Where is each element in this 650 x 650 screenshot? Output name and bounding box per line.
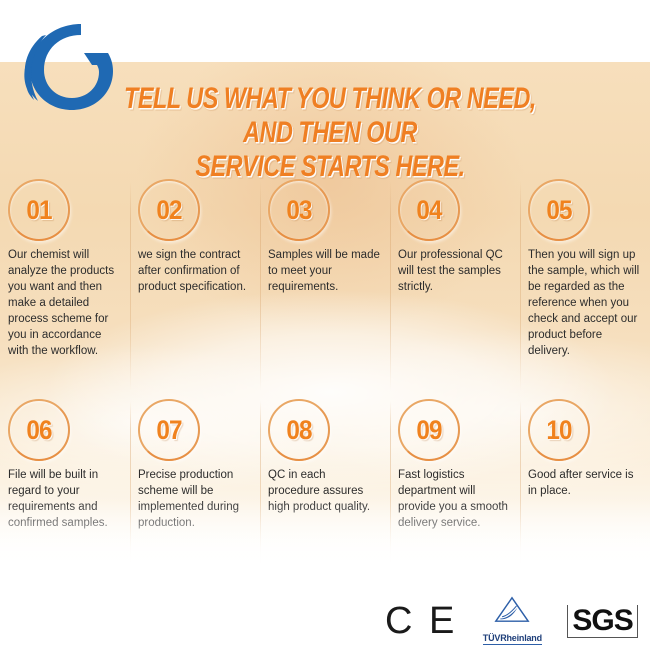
step-badge-08: 08 <box>268 399 330 461</box>
tuv-rheinland-label: TÜVRheinland <box>483 633 542 645</box>
step-badge-05: 05 <box>528 179 590 241</box>
sgs-logo: SGS <box>567 605 637 638</box>
step-description: Our professional QC will test the sample… <box>398 247 510 295</box>
step-item-08[interactable]: 08 QC in each procedure assures high pro… <box>260 395 390 570</box>
step-description: Fast logistics department will provide y… <box>398 467 510 531</box>
step-number: 02 <box>156 197 181 224</box>
step-badge-10: 10 <box>528 399 590 461</box>
step-number: 04 <box>416 197 441 224</box>
step-item-03[interactable]: 03 Samples will be made to meet your req… <box>260 175 390 395</box>
ce-mark-icon: C E <box>385 601 457 641</box>
step-description: Good after service is in place. <box>528 467 640 499</box>
step-badge-01: 01 <box>8 179 70 241</box>
step-description: Then you will sign up the sample, which … <box>528 247 640 359</box>
step-item-05[interactable]: 05 Then you will sign up the sample, whi… <box>520 175 650 395</box>
step-item-07[interactable]: 07 Precise production scheme will be imp… <box>130 395 260 570</box>
step-description: QC in each procedure assures high produc… <box>268 467 380 515</box>
step-number: 08 <box>286 417 311 444</box>
step-badge-06: 06 <box>8 399 70 461</box>
step-description: Precise production scheme will be implem… <box>138 467 250 531</box>
step-number: 06 <box>26 417 51 444</box>
steps-row-1: 01 Our chemist will analyze the products… <box>0 175 650 395</box>
certification-logos: C E TÜVRheinland SGS <box>385 597 640 645</box>
step-item-09[interactable]: 09 Fast logistics department will provid… <box>390 395 520 570</box>
step-badge-02: 02 <box>138 179 200 241</box>
step-number: 03 <box>286 197 311 224</box>
step-item-04[interactable]: 04 Our professional QC will test the sam… <box>390 175 520 395</box>
steps-row-2: 06 File will be built in regard to your … <box>0 395 650 570</box>
step-badge-07: 07 <box>138 399 200 461</box>
step-number: 01 <box>26 197 51 224</box>
step-item-01[interactable]: 01 Our chemist will analyze the products… <box>0 175 130 395</box>
steps-grid: 01 Our chemist will analyze the products… <box>0 175 650 570</box>
step-badge-03: 03 <box>268 179 330 241</box>
step-item-06[interactable]: 06 File will be built in regard to your … <box>0 395 130 570</box>
step-number: 09 <box>416 417 441 444</box>
step-number: 10 <box>546 417 571 444</box>
step-description: File will be built in regard to your req… <box>8 467 120 531</box>
infographic-page: TELL US WHAT YOU THINK OR NEED, AND THEN… <box>0 0 650 650</box>
step-description: Samples will be made to meet your requir… <box>268 247 380 295</box>
tuv-rheinland-logo: TÜVRheinland <box>477 596 547 646</box>
step-description: Our chemist will analyze the products yo… <box>8 247 120 359</box>
step-badge-04: 04 <box>398 179 460 241</box>
page-title: TELL US WHAT YOU THINK OR NEED, AND THEN… <box>104 82 556 184</box>
step-number: 07 <box>156 417 181 444</box>
step-number: 05 <box>546 197 571 224</box>
step-badge-09: 09 <box>398 399 460 461</box>
step-description: we sign the contract after confirmation … <box>138 247 250 295</box>
step-item-02[interactable]: 02 we sign the contract after confirmati… <box>130 175 260 395</box>
step-item-10[interactable]: 10 Good after service is in place. <box>520 395 650 570</box>
